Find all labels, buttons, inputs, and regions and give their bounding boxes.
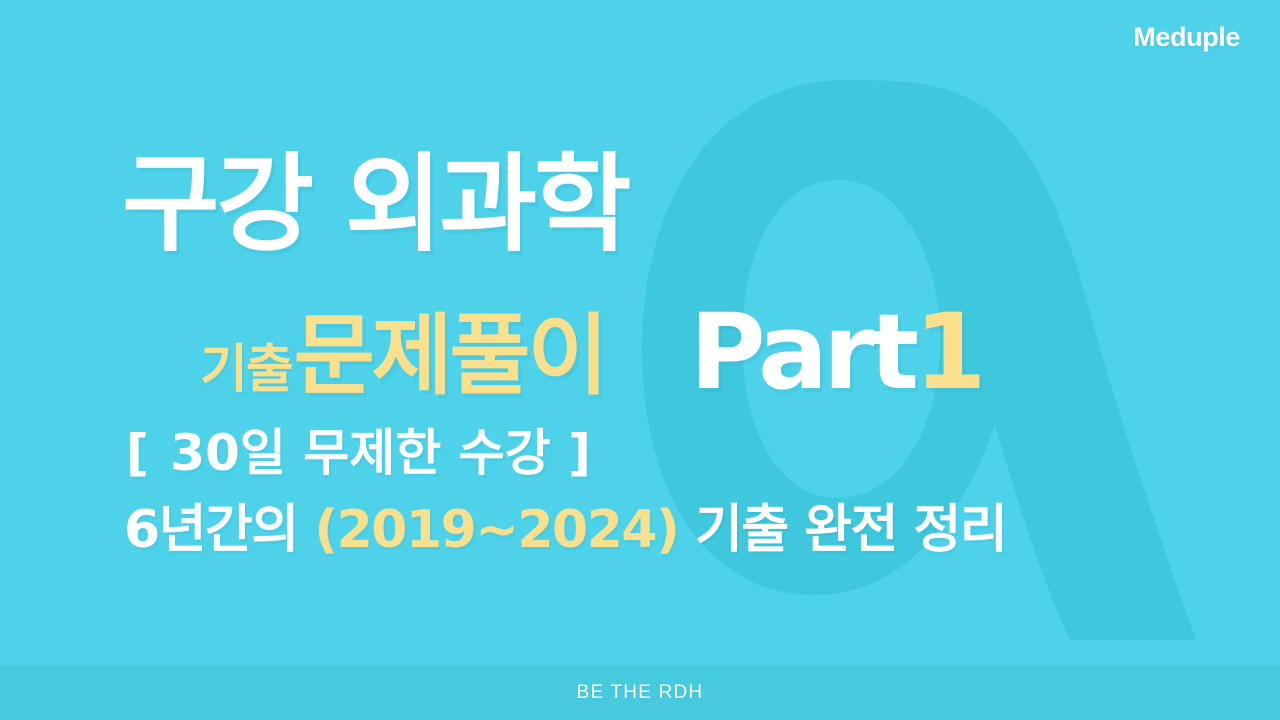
page-title: 구강 외과학 <box>122 152 629 258</box>
footer-tagline: BE THE RDH <box>577 682 704 704</box>
bullet-line-coverage: 6년간의 (2019~2024) 기출 완전 정리 <box>124 504 1006 556</box>
coverage-year-range: (2019~2024) <box>314 500 678 560</box>
subtitle-prefix: 기출 <box>200 344 292 396</box>
slide-canvas: Meduple 구강 외과학 기출 문제풀이 Part1 [ 30일 무제한 수… <box>0 0 1280 720</box>
part-word: Part <box>690 291 915 413</box>
footer-bar: BE THE RDH <box>0 665 1280 720</box>
part-badge: Part1 <box>690 300 982 404</box>
subtitle-row: 기출 문제풀이 Part1 <box>200 296 982 400</box>
brand-logo: Meduple <box>1133 22 1240 53</box>
part-number: 1 <box>914 291 981 413</box>
bracket-open: [ <box>126 424 153 482</box>
subtitle-main: 문제풀이 <box>294 312 606 400</box>
coverage-prefix: 6년간의 <box>124 500 314 560</box>
bullet-line-duration: [ 30일 무제한 수강 ] <box>126 428 595 478</box>
coverage-suffix: 기출 완전 정리 <box>678 500 1006 560</box>
bracket-close: ] <box>568 424 595 482</box>
headline-block: 구강 외과학 기출 문제풀이 Part1 [ 30일 무제한 수강 ] 6년간의… <box>0 0 1280 665</box>
bullet-duration-text: 30일 무제한 수강 <box>170 424 550 482</box>
